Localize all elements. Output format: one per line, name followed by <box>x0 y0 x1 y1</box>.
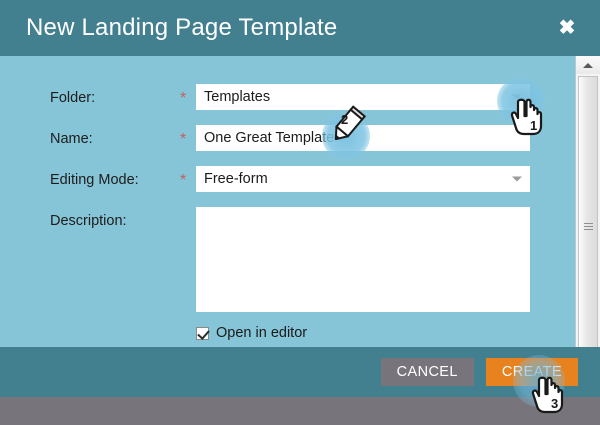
dialog-scrollbar[interactable] <box>575 56 600 397</box>
folder-required-marker: * <box>180 84 196 112</box>
name-input[interactable] <box>196 125 530 151</box>
name-label: Name: <box>50 125 180 152</box>
editing-mode-required-marker: * <box>180 166 196 194</box>
open-in-editor-row: Open in editor <box>0 325 575 341</box>
name-field-wrap <box>196 125 575 151</box>
folder-label: Folder: <box>50 84 180 111</box>
open-in-editor-checkbox[interactable] <box>196 327 209 340</box>
folder-value: Templates <box>204 89 270 105</box>
editing-mode-value: Free-form <box>204 171 268 187</box>
folder-field-wrap: Templates <box>196 84 575 110</box>
name-required-marker: * <box>180 125 196 153</box>
editing-mode-dropdown[interactable]: Free-form <box>196 166 530 192</box>
scrollbar-track[interactable] <box>576 74 600 379</box>
annotation-number-3: 3 <box>551 396 558 411</box>
description-label: Description: <box>50 207 180 234</box>
open-in-editor-label: Open in editor <box>216 325 307 341</box>
description-textarea[interactable] <box>196 207 530 312</box>
form-row-folder: Folder: * Templates <box>0 84 575 112</box>
dialog-title: New Landing Page Template <box>26 14 337 42</box>
new-landing-page-template-dialog: New Landing Page Template ✖ Folder: * Te… <box>0 0 600 397</box>
create-button[interactable]: CREATE <box>486 358 578 386</box>
form-row-description: Description: <box>0 207 575 312</box>
dialog-footer: CANCEL CREATE <box>0 347 600 397</box>
scrollbar-thumb-grip-icon <box>584 221 593 232</box>
cancel-button[interactable]: CANCEL <box>381 358 474 386</box>
description-field-wrap <box>196 207 575 312</box>
dialog-body: Folder: * Templates Name: * <box>0 56 600 397</box>
description-required-marker <box>180 207 196 209</box>
form-row-name: Name: * <box>0 125 575 153</box>
scrollbar-thumb[interactable] <box>578 76 598 377</box>
editing-mode-label: Editing Mode: <box>50 166 180 193</box>
chevron-down-icon[interactable] <box>512 177 522 182</box>
close-icon[interactable]: ✖ <box>556 17 578 39</box>
editing-mode-field-wrap: Free-form <box>196 166 575 192</box>
form-row-editing-mode: Editing Mode: * Free-form <box>0 166 575 194</box>
folder-dropdown[interactable]: Templates <box>196 84 530 110</box>
chevron-down-icon[interactable] <box>512 95 522 100</box>
screenshot-root: New Landing Page Template ✖ Folder: * Te… <box>0 0 600 425</box>
dialog-titlebar: New Landing Page Template ✖ <box>0 0 600 56</box>
template-form: Folder: * Templates Name: * <box>0 56 575 397</box>
scroll-up-arrow-icon[interactable] <box>576 56 600 74</box>
